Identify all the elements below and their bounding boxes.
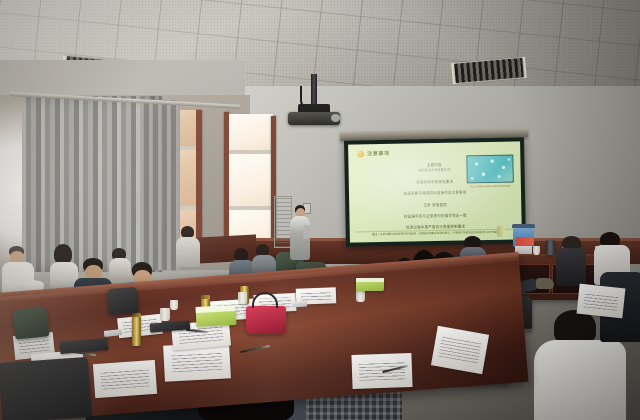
slide-line-4: 样品采集与保存的标准操作及注意事项: [349, 188, 521, 197]
window-glass-2b: [229, 154, 273, 208]
slide-surface: 注意事项 主题内容 （本页仅为示例标题文字） 实验分析中的规范要求 样品采集与保…: [348, 141, 522, 242]
cabinet-thermos-1: [546, 240, 555, 255]
thermos-2-cap: [201, 295, 210, 299]
water-bottle: [513, 228, 534, 247]
water-bottle-cap-icon: [512, 224, 535, 228]
chair-table-green-1[interactable]: [13, 306, 50, 339]
cabinet-cup-1: [533, 246, 540, 255]
chair-table-dark-2[interactable]: [0, 357, 92, 420]
paper-cup-1[interactable]: [160, 308, 170, 321]
slide-bullet-icon: [357, 150, 364, 157]
tissue-box-opening: [196, 305, 236, 313]
paper-cup-2[interactable]: [238, 292, 247, 304]
tissue-box-2[interactable]: [356, 278, 384, 291]
attendee-shoe-icon: [536, 278, 554, 289]
thermos-1[interactable]: [132, 316, 141, 346]
phone-2[interactable]: [292, 302, 307, 308]
paper-cup-4[interactable]: [170, 300, 178, 310]
attendee-fg-white-hair: [554, 310, 596, 344]
tissue-box-2-opening: [356, 278, 384, 282]
slide-header: 注意事项: [357, 150, 390, 158]
slide-line-5: 记录 数据整理: [349, 200, 521, 209]
window-glass-2a: [229, 114, 273, 152]
attendee-left-2-hair: [54, 244, 72, 264]
paper-cup-3[interactable]: [356, 290, 365, 302]
thermos-1-cap: [132, 313, 141, 317]
attendee-far-1-body: [176, 237, 200, 267]
attendee-right-5-body: [556, 248, 586, 286]
attendee-left-5-body: [109, 258, 131, 280]
attendee-fg-white-body: [534, 340, 626, 420]
paper-cup-5[interactable]: [497, 226, 505, 237]
projector-lens-icon: [331, 114, 340, 122]
water-bottle-label: [516, 237, 533, 245]
chair-table-dark-1[interactable]: [107, 287, 139, 315]
presenter-arm: [303, 225, 310, 239]
conference-room-photo: 注意事项 主题内容 （本页仅为示例标题文字） 实验分析中的规范要求 样品采集与保…: [0, 0, 640, 420]
slide-line-6: 样品编号应与记录表中的编号完全一致: [349, 211, 521, 220]
red-handbag[interactable]: [246, 306, 286, 334]
paper-11[interactable]: [577, 284, 626, 319]
slide-title: 注意事项: [367, 150, 390, 157]
slide-microscopy-image: [466, 154, 514, 183]
paper-3[interactable]: [93, 360, 157, 398]
tissue-box[interactable]: [196, 305, 237, 327]
curtain-secondary: [140, 99, 180, 270]
